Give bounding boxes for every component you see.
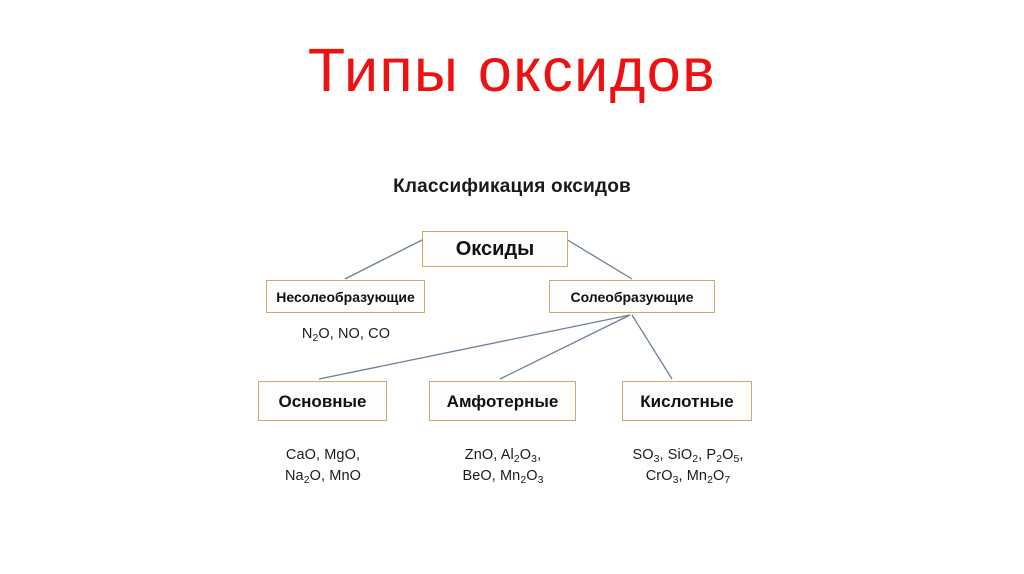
- examples-amphoteric-oxides: ZnO, Al2O3, BeO, Mn2O3: [424, 445, 582, 486]
- node-basic-oxides-label: Основные: [278, 393, 366, 410]
- edge-root-to-nonsalt: [345, 239, 424, 279]
- node-oxides-label: Оксиды: [456, 239, 535, 259]
- examples-basic-oxides-line1: CaO, MgO,: [250, 445, 396, 466]
- diagram-title: Классификация оксидов: [0, 176, 1024, 198]
- node-acidic-oxides-label: Кислотные: [640, 393, 733, 410]
- examples-acidic-oxides: SO3, SiO2, P2O5, CrO3, Mn2O7: [604, 445, 772, 486]
- examples-non-salt-forming-line1: N2O, NO, CO: [256, 324, 436, 345]
- examples-basic-oxides: CaO, MgO, Na2O, MnO: [250, 445, 396, 486]
- examples-acidic-oxides-line1: SO3, SiO2, P2O5,: [604, 445, 772, 466]
- edge-saltforming-to-amphoteric: [500, 315, 630, 379]
- node-basic-oxides[interactable]: Основные: [258, 381, 387, 421]
- node-salt-forming[interactable]: Солеобразующие: [549, 280, 715, 313]
- node-amphoteric-oxides[interactable]: Амфотерные: [429, 381, 576, 421]
- node-amphoteric-oxides-label: Амфотерные: [447, 393, 559, 410]
- node-oxides[interactable]: Оксиды: [422, 231, 568, 267]
- examples-amphoteric-oxides-line1: ZnO, Al2O3,: [424, 445, 582, 466]
- node-non-salt-forming-label: Несолеобразующие: [276, 290, 414, 304]
- examples-non-salt-forming: N2O, NO, CO: [256, 324, 436, 345]
- edge-saltforming-to-acidic: [632, 315, 672, 379]
- node-acidic-oxides[interactable]: Кислотные: [622, 381, 752, 421]
- edge-root-to-saltforming: [566, 239, 632, 279]
- examples-acidic-oxides-line2: CrO3, Mn2O7: [604, 466, 772, 487]
- oxide-classification-diagram: Классификация оксидов Оксиды Несолеобраз…: [0, 0, 1024, 574]
- node-non-salt-forming[interactable]: Несолеобразующие: [266, 280, 425, 313]
- connector-lines: [0, 0, 1024, 574]
- node-salt-forming-label: Солеобразующие: [570, 290, 693, 304]
- examples-basic-oxides-line2: Na2O, MnO: [250, 466, 396, 487]
- examples-amphoteric-oxides-line2: BeO, Mn2O3: [424, 466, 582, 487]
- slide-canvas: Типы оксидов Классификация оксидов Оксид…: [0, 0, 1024, 574]
